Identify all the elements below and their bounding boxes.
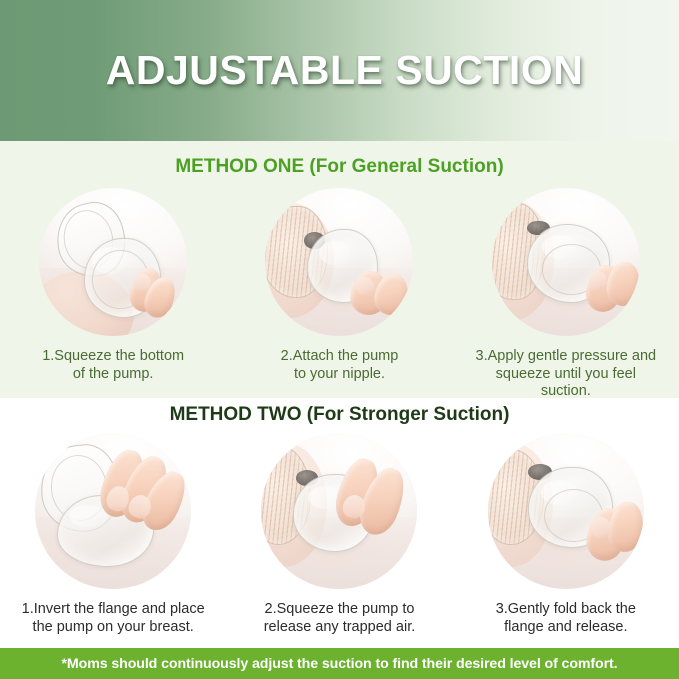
header-banner: ADJUSTABLE SUCTION: [0, 0, 679, 141]
method-two-step-1: 1.Invert the flange and place the pump o…: [0, 433, 226, 636]
method-two-step-2-caption: 2.Squeeze the pump to release any trappe…: [264, 601, 416, 636]
photo-squeeze-bottom-of-pump: [39, 188, 187, 336]
photo-attach-pump-to-nipple: [265, 188, 413, 336]
photo-invert-flange-place-pump: [35, 433, 191, 589]
photo-squeeze-pump-release-air: [261, 433, 417, 589]
fingernail: [589, 271, 607, 290]
method-one-step-1: 1.Squeeze the bottom of the pump.: [0, 188, 226, 383]
method-two-steps-row: 1.Invert the flange and place the pump o…: [0, 433, 679, 636]
method-one-step-2-caption: 2.Attach the pump to your nipple.: [281, 348, 399, 383]
fingernail: [356, 277, 374, 295]
method-two-section: METHOD TWO (For Stronger Suction): [0, 398, 679, 648]
method-two-heading: METHOD TWO (For Stronger Suction): [0, 404, 679, 426]
footer-note-bar: *Moms should continuously adjust the suc…: [0, 648, 679, 679]
pump-highlight: [69, 505, 106, 527]
photo-apply-gentle-pressure: [492, 188, 640, 336]
method-two-step-1-caption: 1.Invert the flange and place the pump o…: [22, 601, 205, 636]
method-one-step-3-caption: 3.Apply gentle pressure and squeeze unti…: [476, 348, 657, 401]
method-one-step-1-caption: 1.Squeeze the bottom of the pump.: [42, 348, 184, 383]
footer-note-text: *Moms should continuously adjust the suc…: [62, 656, 618, 672]
photo-gently-fold-back-flange: [488, 433, 644, 589]
infographic-page: ADJUSTABLE SUCTION METHOD ONE (For Gener…: [0, 0, 679, 679]
method-one-heading: METHOD ONE (For General Suction): [0, 156, 679, 178]
method-one-step-3: 3.Apply gentle pressure and squeeze unti…: [453, 188, 679, 401]
method-two-step-2: 2.Squeeze the pump to release any trappe…: [226, 433, 452, 636]
method-two-step-3: 3.Gently fold back the flange and releas…: [453, 433, 679, 636]
page-title: ADJUSTABLE SUCTION: [96, 47, 583, 94]
method-one-steps-row: 1.Squeeze the bottom of the pump.: [0, 188, 679, 401]
method-two-step-3-caption: 3.Gently fold back the flange and releas…: [496, 601, 636, 636]
pump-highlight: [319, 241, 352, 265]
method-one-step-2: 2.Attach the pump to your nipple.: [226, 188, 452, 383]
fingernail: [591, 517, 611, 537]
method-one-section: METHOD ONE (For General Suction): [0, 141, 679, 398]
